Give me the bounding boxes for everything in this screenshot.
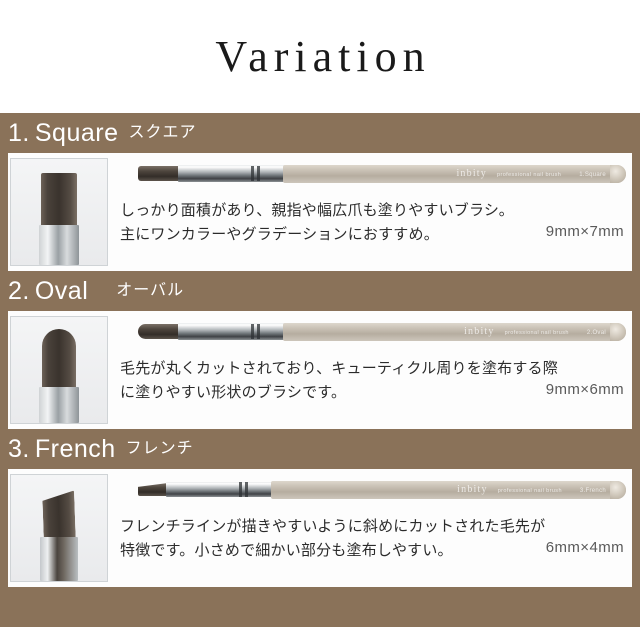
section-name-square: Square [35, 121, 119, 146]
section-number-french: 3. [8, 437, 30, 462]
brush-ferrule-icon [39, 387, 79, 423]
dimension-french: 6mm×4mm [546, 539, 624, 556]
full-brush-ferrule-icon [178, 323, 286, 340]
brush-bristles-icon [42, 329, 76, 391]
product-panel-square: inbity professional nail brush 1.Square … [8, 153, 632, 271]
full-brush-crimp-icon [257, 166, 260, 181]
section-kana-french: フレンチ [126, 441, 194, 457]
description-line-1: 毛先が丸くカットされており、キューティクル周りを塗布する際 [120, 357, 626, 381]
full-brush-handle-icon [283, 323, 626, 341]
full-brush-crimp-icon [257, 324, 260, 339]
brush-bristles-icon [41, 173, 77, 229]
full-brush-bristles-icon [138, 166, 180, 181]
full-brush-image-square: inbity professional nail brush 1.Square [120, 153, 632, 195]
section-header-french: 3. French フレンチ [0, 429, 640, 469]
description-line-1: フレンチラインが描きやすいように斜めにカットされた毛先が [120, 515, 626, 539]
description-french: フレンチラインが描きやすいように斜めにカットされた毛先が 特徴です。小さめで細か… [120, 515, 632, 562]
square-brush-tip-photo [10, 158, 108, 266]
title-band: Variation [0, 0, 640, 113]
full-brush-ferrule-icon [178, 165, 286, 182]
dimension-square: 9mm×7mm [546, 223, 624, 240]
full-brush-handle-icon [271, 481, 626, 499]
full-brush-crimp-icon [239, 482, 242, 497]
section-oval: 2. Oval オーバル inbity professional nail [0, 271, 640, 429]
brush-bristles-icon [42, 490, 76, 543]
section-header-oval: 2. Oval オーバル [0, 271, 640, 311]
section-square: 1. Square スクエア inbity professional nai [0, 113, 640, 271]
french-angled-brush-tip-photo [10, 474, 108, 582]
section-kana-oval: オーバル [116, 283, 184, 299]
variation-sections: 1. Square スクエア inbity professional nai [0, 113, 640, 587]
description-square: しっかり面積があり、親指や幅広爪も塗りやすいブラシ。 主にワンカラーやグラデーシ… [120, 199, 632, 246]
product-detail-french: inbity professional nail brush 3.French … [108, 469, 632, 587]
brush-ferrule-icon [40, 537, 78, 581]
product-detail-oval: inbity professional nail brush 2.Oval 毛先… [108, 311, 632, 429]
section-header-square: 1. Square スクエア [0, 113, 640, 153]
brush-ferrule-icon [39, 225, 79, 265]
product-detail-square: inbity professional nail brush 1.Square … [108, 153, 632, 271]
product-panel-french: inbity professional nail brush 3.French … [8, 469, 632, 587]
dimension-oval: 9mm×6mm [546, 381, 624, 398]
section-number-oval: 2. [8, 279, 30, 304]
full-brush-image-french: inbity professional nail brush 3.French [120, 469, 632, 511]
full-brush-handle-icon [283, 165, 626, 183]
full-brush-image-oval: inbity professional nail brush 2.Oval [120, 311, 632, 353]
full-brush-ferrule-icon [166, 482, 274, 497]
full-brush-bristles-icon [138, 324, 180, 339]
page-title: Variation [209, 35, 430, 79]
full-brush-crimp-icon [245, 482, 248, 497]
product-panel-oval: inbity professional nail brush 2.Oval 毛先… [8, 311, 632, 429]
section-kana-square: スクエア [128, 125, 196, 141]
oval-brush-tip-photo [10, 316, 108, 424]
description-line-1: しっかり面積があり、親指や幅広爪も塗りやすいブラシ。 [120, 199, 626, 223]
description-oval: 毛先が丸くカットされており、キューティクル周りを塗布する際 に塗りやすい形状のブ… [120, 357, 632, 404]
full-brush-bristles-icon [138, 483, 168, 496]
section-french: 3. French フレンチ inbity professional nai [0, 429, 640, 587]
full-brush-crimp-icon [251, 324, 254, 339]
section-name-oval: Oval [35, 279, 88, 304]
section-number-square: 1. [8, 121, 30, 146]
section-name-french: French [35, 437, 116, 462]
full-brush-crimp-icon [251, 166, 254, 181]
